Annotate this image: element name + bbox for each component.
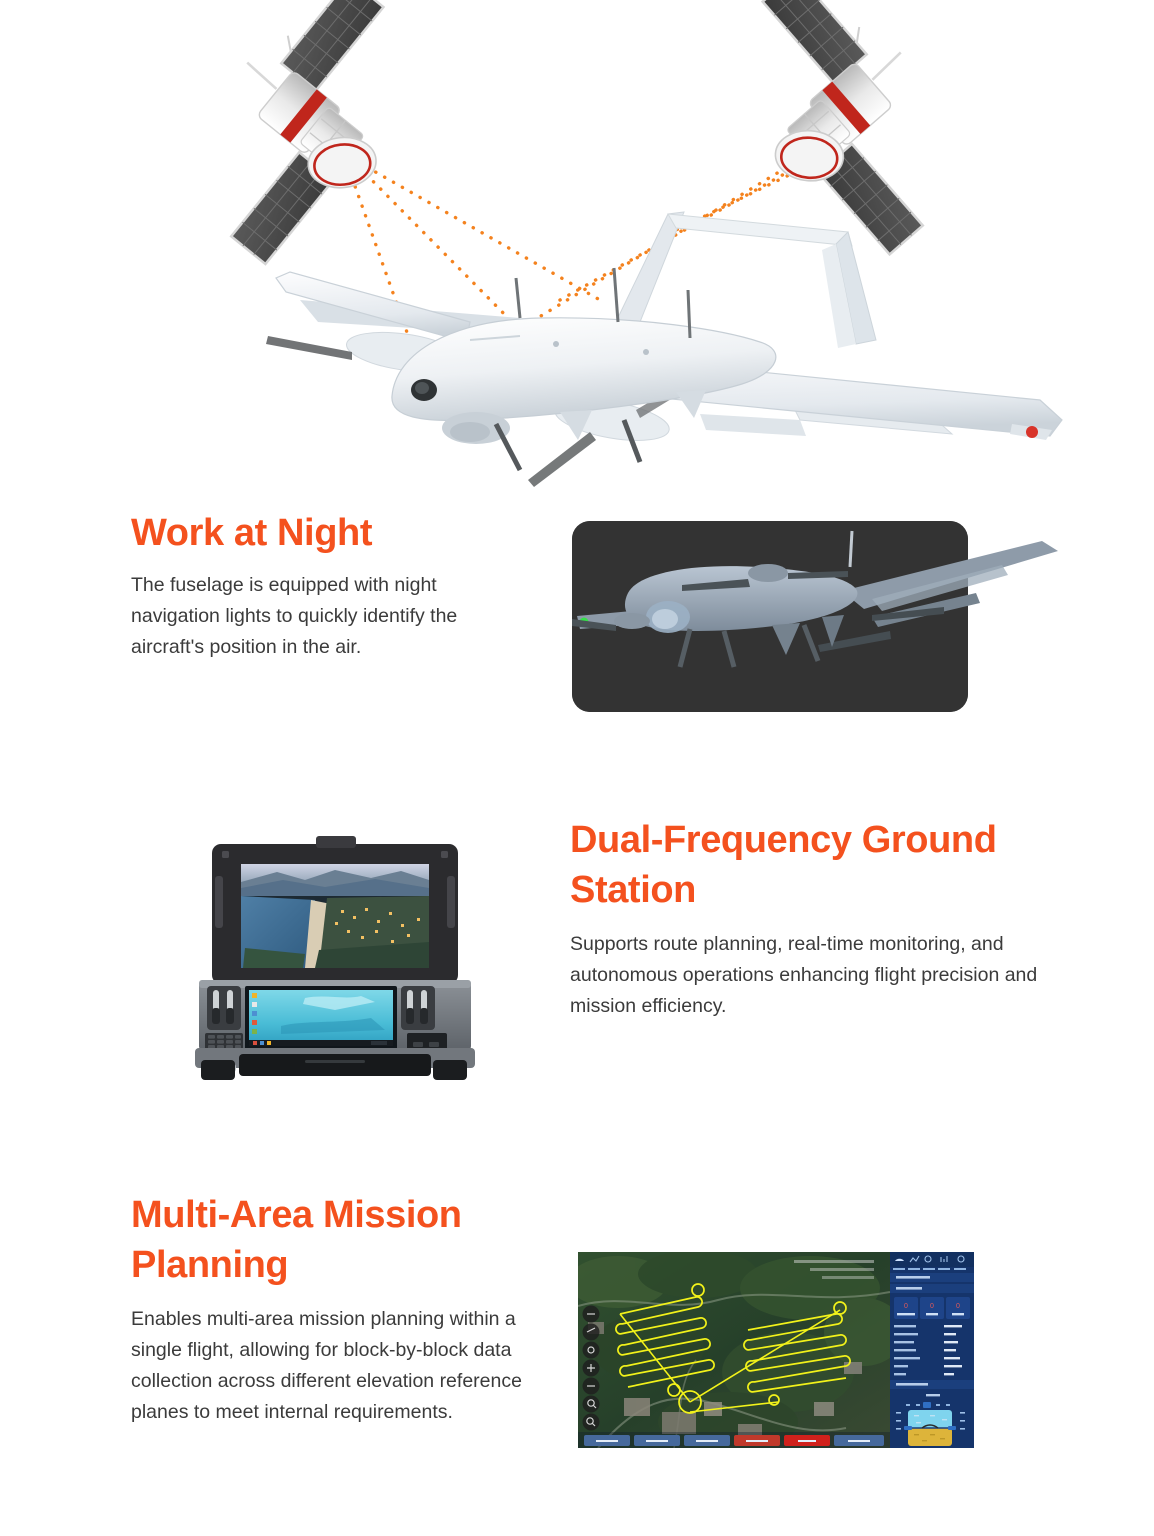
svg-text:0: 0 bbox=[904, 1303, 908, 1310]
bumper-right bbox=[433, 1060, 467, 1080]
bumper-left bbox=[201, 1060, 235, 1080]
battery-bay bbox=[239, 1054, 431, 1076]
section-body-work-at-night: The fuselage is equipped with night navi… bbox=[131, 570, 531, 663]
section-work-at-night-text: Work at Night The fuselage is equipped w… bbox=[131, 508, 531, 663]
uav-aircraft bbox=[266, 212, 1062, 487]
section-body-mission-planning: Enables multi-area mission planning with… bbox=[131, 1304, 551, 1428]
section-body-ground-station: Supports route planning, real-time monit… bbox=[570, 929, 1060, 1022]
status-tiles: 0 0 0 bbox=[894, 1297, 970, 1319]
mission-planning-svg: 0 0 0 bbox=[578, 1252, 974, 1448]
section-mission-planning-text: Multi-Area Mission Planning Enables mult… bbox=[131, 1190, 551, 1428]
section-heading-mission-planning: Multi-Area Mission Planning bbox=[131, 1190, 551, 1290]
gcs-base bbox=[199, 980, 471, 1052]
satellite-map[interactable] bbox=[578, 1252, 904, 1448]
hero-illustration bbox=[0, 0, 1154, 505]
telemetry-sidebar: 0 0 0 bbox=[890, 1252, 974, 1448]
night-flight-photo bbox=[572, 521, 968, 712]
lid-handle bbox=[316, 836, 356, 848]
lid-hinge-left bbox=[215, 876, 223, 928]
section-heading-work-at-night: Work at Night bbox=[131, 508, 531, 558]
night-uav-svg bbox=[572, 521, 968, 712]
left-control-panel[interactable] bbox=[205, 986, 243, 1052]
upper-display-screen[interactable] bbox=[241, 864, 429, 968]
ground-control-station-photo bbox=[185, 830, 485, 1092]
right-wingtip-light bbox=[1026, 426, 1038, 438]
mission-planning-screenshot: 0 0 0 bbox=[578, 1252, 974, 1448]
section-ground-station-text: Dual-Frequency Ground Station Supports r… bbox=[570, 815, 1060, 1022]
gcs-svg bbox=[185, 830, 485, 1092]
feature-page: Work at Night The fuselage is equipped w… bbox=[0, 0, 1154, 1536]
gcs-lid bbox=[212, 836, 458, 984]
satellite-left bbox=[155, 0, 459, 272]
gcs-bottom-tray bbox=[195, 1048, 475, 1080]
lid-hinge-right bbox=[447, 876, 455, 928]
lower-tablet-screen[interactable] bbox=[245, 986, 397, 1052]
svg-text:0: 0 bbox=[956, 1303, 960, 1310]
section-heading-ground-station: Dual-Frequency Ground Station bbox=[570, 815, 1060, 915]
hero-svg bbox=[0, 0, 1154, 505]
mission-toolbar[interactable] bbox=[578, 1432, 890, 1448]
svg-text:0: 0 bbox=[930, 1303, 934, 1310]
